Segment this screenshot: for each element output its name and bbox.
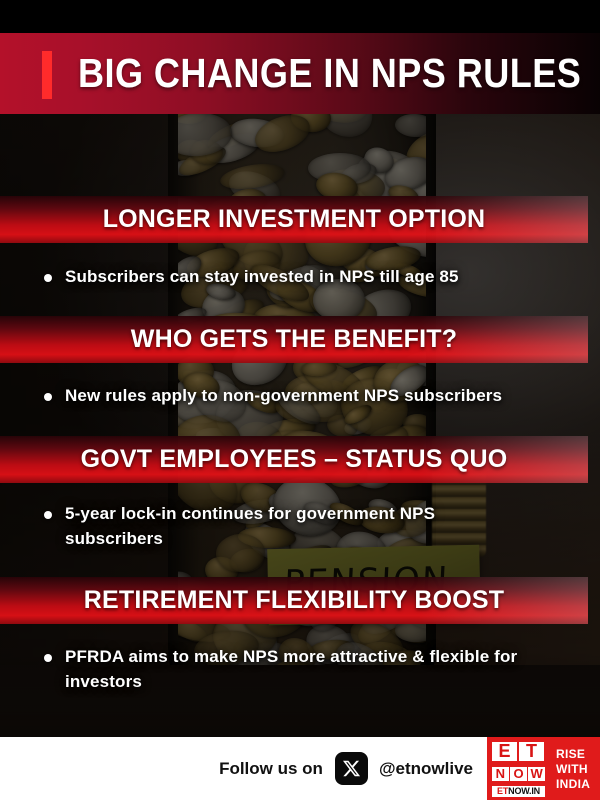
bullet-text-3-1: 5-year lock-in continues for government … (65, 502, 474, 551)
etnow-logo-mark: E T N O W ETNOW.IN (487, 737, 549, 800)
etnow-url-suffix: NOW.IN (508, 786, 540, 796)
section-heading-2: WHO GETS THE BENEFIT? (131, 325, 457, 354)
section-heading-bar-1: LONGER INVESTMENT OPTION (0, 196, 588, 243)
title-accent-bar (42, 51, 52, 99)
etnow-et-row: E T (492, 742, 545, 761)
tagline-line-1: RISE (556, 747, 600, 761)
list-item: Subscribers can stay invested in NPS til… (44, 265, 569, 290)
etnow-now-row: N O W (492, 767, 545, 781)
section-heading-1: LONGER INVESTMENT OPTION (103, 205, 486, 234)
follow-us-label: Follow us on (219, 759, 323, 779)
tagline-line-2: WITH (556, 762, 600, 776)
section-heading-3: GOVT EMPLOYEES – STATUS QUO (81, 445, 508, 474)
etnow-letter-e: E (492, 742, 517, 761)
bullet-dot (44, 511, 52, 519)
bullet-dot (44, 393, 52, 401)
list-item: New rules apply to non-government NPS su… (44, 384, 569, 409)
section-heading-4: RETIREMENT FLEXIBILITY BOOST (84, 586, 504, 615)
section-heading-bar-3: GOVT EMPLOYEES – STATUS QUO (0, 436, 588, 483)
footer-bar: Follow us on @etnowlive E T N O W ETNOW.… (0, 737, 600, 800)
page-title: BIG CHANGE IN NPS RULES (78, 33, 581, 114)
etnow-letter-t: T (519, 742, 544, 761)
list-item: 5-year lock-in continues for government … (44, 502, 474, 551)
etnow-website-url: ETNOW.IN (492, 786, 545, 797)
etnow-tagline: RISE WITH INDIA (549, 737, 600, 800)
etnow-letter-w: W (528, 767, 545, 781)
etnow-url-prefix: ET (497, 786, 508, 796)
x-twitter-icon[interactable] (335, 752, 368, 785)
bullet-dot (44, 654, 52, 662)
section-heading-bar-2: WHO GETS THE BENEFIT? (0, 316, 588, 363)
etnow-letter-o: O (510, 767, 527, 781)
etnow-letter-n: N (492, 767, 509, 781)
infographic-poster: PENSION BIG CHANGE IN NPS RULES LONGER I… (0, 0, 600, 800)
bullet-text-1-1: Subscribers can stay invested in NPS til… (65, 265, 459, 290)
bullet-dot (44, 274, 52, 282)
list-item: PFRDA aims to make NPS more attractive &… (44, 645, 569, 694)
top-black-band (0, 0, 600, 33)
bullet-text-2-1: New rules apply to non-government NPS su… (65, 384, 502, 409)
bullet-text-4-1: PFRDA aims to make NPS more attractive &… (65, 645, 569, 694)
etnow-logo: E T N O W ETNOW.IN RISE WITH INDIA (487, 737, 600, 800)
section-heading-bar-4: RETIREMENT FLEXIBILITY BOOST (0, 577, 588, 624)
title-banner: BIG CHANGE IN NPS RULES (0, 33, 600, 114)
social-handle[interactable]: @etnowlive (379, 759, 473, 779)
tagline-line-3: INDIA (556, 777, 600, 791)
